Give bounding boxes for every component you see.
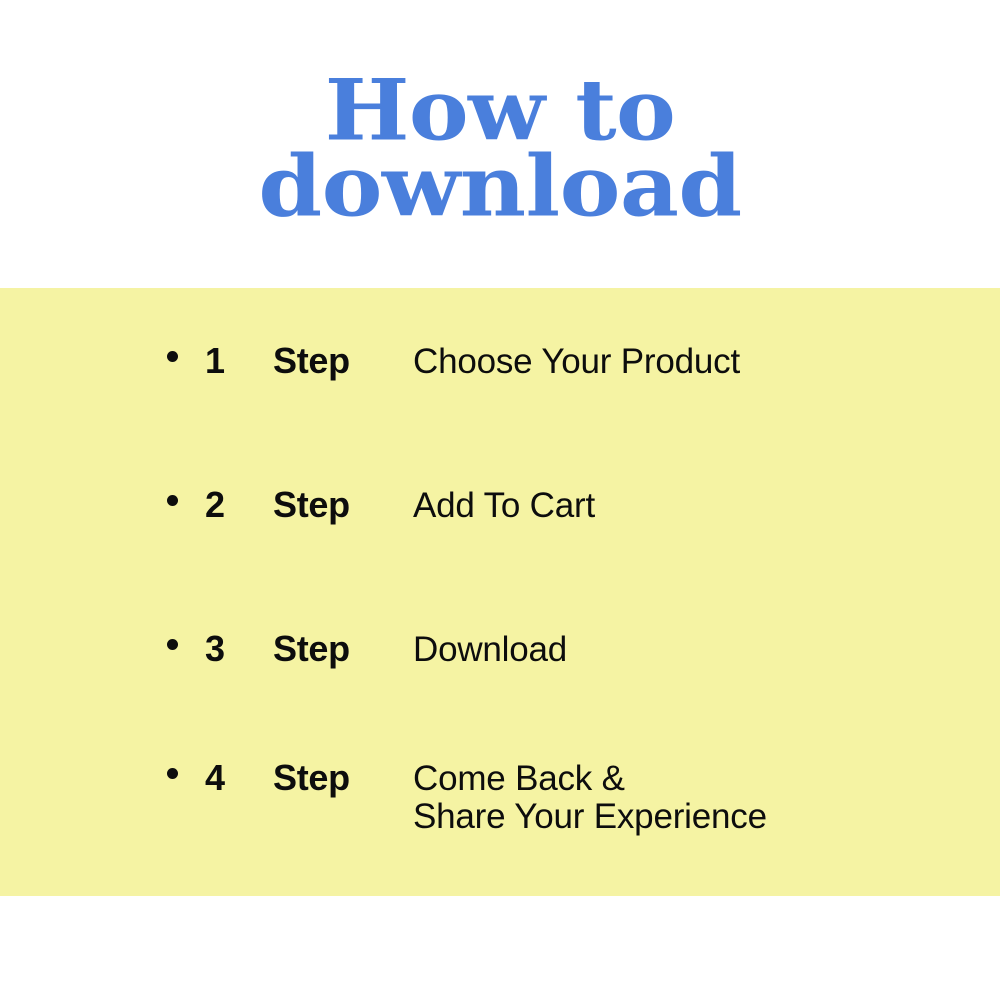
page-title-line-2: download bbox=[0, 148, 1000, 225]
list-item: 2 Step Add To Cart bbox=[165, 487, 965, 523]
step-description: Add To Cart bbox=[413, 488, 965, 523]
step-label: Step bbox=[273, 760, 413, 796]
step-label: Step bbox=[273, 487, 413, 523]
step-label: Step bbox=[273, 343, 413, 379]
step-description: Choose Your Product bbox=[413, 344, 965, 379]
step-number: 3 bbox=[205, 631, 273, 667]
step-description: Come Back & Share Your Experience bbox=[413, 760, 965, 836]
step-label: Step bbox=[273, 631, 413, 667]
step-description: Download bbox=[413, 632, 965, 667]
page-title: How to download bbox=[0, 74, 1000, 223]
list-item: 3 Step Download bbox=[165, 631, 965, 667]
step-number: 4 bbox=[205, 760, 273, 796]
list-item: 4 Step Come Back & Share Your Experience bbox=[165, 760, 965, 836]
step-number: 1 bbox=[205, 343, 273, 379]
steps-band: 1 Step Choose Your Product 2 Step Add To… bbox=[0, 288, 1000, 896]
poster-canvas: How to download 1 Step Choose Your Produ… bbox=[0, 0, 1000, 1000]
step-number: 2 bbox=[205, 487, 273, 523]
steps-list: 1 Step Choose Your Product 2 Step Add To… bbox=[0, 288, 1000, 896]
list-item: 1 Step Choose Your Product bbox=[165, 343, 965, 379]
